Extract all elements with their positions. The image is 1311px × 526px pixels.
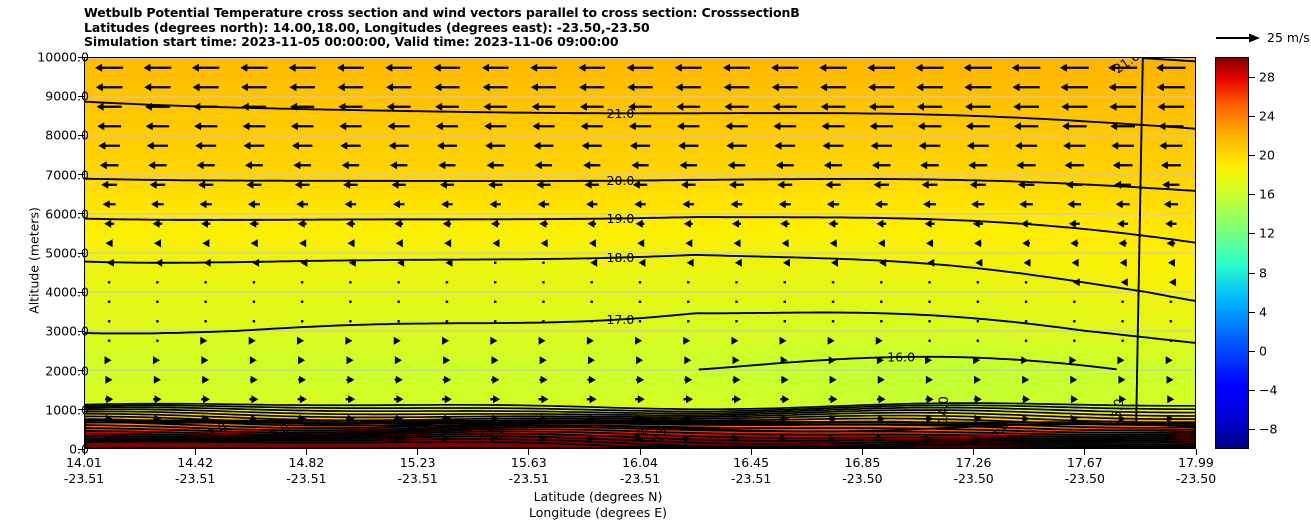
wind-vector <box>446 320 448 322</box>
wind-vector <box>349 301 351 303</box>
wind-vector <box>832 281 834 283</box>
cross-section-plot: 16.017.018.019.020.021.023.023.023.023.0… <box>84 57 1196 449</box>
colorbar-tick-label: 4 <box>1259 304 1267 319</box>
wind-vector <box>591 320 593 322</box>
arrow-right-icon <box>1216 32 1260 44</box>
wind-vector <box>156 301 158 303</box>
colorbar <box>1215 57 1249 449</box>
x-axis-latitude-label: 14.01 <box>66 455 102 470</box>
x-axis-latitude-label: 16.45 <box>733 455 769 470</box>
wind-vector <box>1073 301 1075 303</box>
wind-vector <box>542 320 544 322</box>
chart-title-block: Wetbulb Potential Temperature cross sect… <box>84 6 1204 50</box>
wind-vector <box>253 301 255 303</box>
wind-vector <box>1073 340 1075 342</box>
wind-vector <box>494 281 496 283</box>
x-axis-latitude-label: 15.63 <box>511 455 547 470</box>
wind-vector <box>977 281 979 283</box>
wind-vector <box>1025 320 1027 322</box>
y-axis-tick-mark <box>78 135 84 136</box>
wind-vector <box>301 281 303 283</box>
title-line-3: Simulation start time: 2023-11-05 00:00:… <box>84 35 1204 50</box>
wind-vector <box>446 301 448 303</box>
y-axis-tick-mark <box>78 96 84 97</box>
wind-vector <box>977 320 979 322</box>
wind-vector <box>1170 340 1172 342</box>
wind-vector <box>977 301 979 303</box>
x-axis-latitude-label: 16.04 <box>622 455 658 470</box>
colorbar-tick-label: −4 <box>1259 383 1277 398</box>
wind-vector <box>591 301 593 303</box>
plot-canvas: 16.017.018.019.020.021.023.023.023.023.0… <box>85 58 1195 448</box>
x-axis-latitude-label: 15.23 <box>400 455 436 470</box>
wind-vector <box>639 320 641 322</box>
x-axis-longitude-label: -23.51 <box>397 471 437 486</box>
contour-label: 18.0 <box>607 250 635 265</box>
wind-vector <box>397 301 399 303</box>
wind-vector <box>735 301 737 303</box>
wind-vector <box>156 320 158 322</box>
wind-vector <box>1025 281 1027 283</box>
wind-vector <box>977 340 979 342</box>
wind-vector <box>1025 340 1027 342</box>
x-axis-longitude-label: -23.51 <box>509 471 549 486</box>
x-axis-latitude-label: 14.82 <box>288 455 324 470</box>
wind-vector <box>494 320 496 322</box>
colorbar-tick-label: 20 <box>1259 148 1275 163</box>
x-axis-longitude-label: -23.50 <box>953 471 993 486</box>
y-axis-tick-mark <box>78 253 84 254</box>
wind-vector <box>687 320 689 322</box>
y-axis-tick-mark <box>78 409 84 410</box>
wind-vector <box>108 301 110 303</box>
contour-label: 21.0 <box>607 106 635 121</box>
x-axis-longitude-label: -23.51 <box>175 471 215 486</box>
wind-vector <box>542 301 544 303</box>
y-axis-tick-mark <box>78 213 84 214</box>
wind-vector <box>639 281 641 283</box>
wind-vector <box>349 320 351 322</box>
colorbar-tick-mark <box>1249 155 1255 156</box>
wind-vector <box>494 262 496 264</box>
wind-vector <box>397 320 399 322</box>
wind-vector <box>639 301 641 303</box>
x-axis-latitude-label: 17.26 <box>956 455 992 470</box>
wind-vector <box>494 301 496 303</box>
x-axis-latitude-label: 17.67 <box>1067 455 1103 470</box>
colorbar-tick-label: 8 <box>1259 265 1267 280</box>
wind-vector <box>1025 301 1027 303</box>
wind-vector <box>832 301 834 303</box>
colorbar-tick-mark <box>1249 116 1255 117</box>
wind-vector <box>301 301 303 303</box>
x-axis-longitude-label: -23.50 <box>842 471 882 486</box>
wind-vector <box>928 340 930 342</box>
colorbar-tick-mark <box>1249 429 1255 430</box>
y-axis-tick-mark <box>78 370 84 371</box>
title-line-1: Wetbulb Potential Temperature cross sect… <box>84 6 1204 21</box>
colorbar-tick-mark <box>1249 312 1255 313</box>
title-line-2: Latitudes (degrees north): 14.00,18.00, … <box>84 21 1204 36</box>
colorbar-gradient <box>1216 58 1248 448</box>
x-axis-latitude-label: 14.42 <box>177 455 213 470</box>
wind-vector <box>301 320 303 322</box>
x-axis-longitude-label: -23.51 <box>64 471 104 486</box>
colorbar-tick-mark <box>1249 390 1255 391</box>
wind-vector <box>542 262 544 264</box>
wind-vector <box>928 301 930 303</box>
wind-vector-key: 25 m/s <box>1216 30 1310 45</box>
y-axis-tick-mark <box>78 331 84 332</box>
wind-vector <box>204 301 206 303</box>
wind-vector <box>928 281 930 283</box>
wind-vector <box>349 281 351 283</box>
wind-vector <box>156 340 158 342</box>
x-axis-latitude-label: 17.99 <box>1178 455 1214 470</box>
wind-vector <box>156 281 158 283</box>
contour-label: 17.0 <box>607 312 635 327</box>
wind-vector <box>1170 301 1172 303</box>
wind-vector <box>253 281 255 283</box>
wind-vector <box>108 281 110 283</box>
wind-vector <box>204 320 206 322</box>
contour-label: 16.0 <box>887 349 915 364</box>
x-axis-longitude-label: -23.50 <box>1176 471 1216 486</box>
wind-vector <box>832 320 834 322</box>
x-axis-label-longitude: Longitude (degrees E) <box>0 505 1196 520</box>
wind-vector <box>880 301 882 303</box>
y-axis-label: Altitude (meters) <box>27 131 42 391</box>
wind-vector <box>108 340 110 342</box>
x-axis-longitude-label: -23.51 <box>286 471 326 486</box>
wind-vector <box>880 320 882 322</box>
y-axis-tick-mark <box>78 174 84 175</box>
x-axis-longitude-label: -23.51 <box>731 471 771 486</box>
wind-vector <box>253 320 255 322</box>
wind-vector <box>446 281 448 283</box>
colorbar-tick-mark <box>1249 273 1255 274</box>
x-axis-longitude-label: -23.51 <box>620 471 660 486</box>
wind-vector <box>784 281 786 283</box>
wind-vector <box>735 281 737 283</box>
wind-vector <box>928 320 930 322</box>
wind-vector <box>1170 320 1172 322</box>
contour-label: 19.0 <box>607 211 635 226</box>
contour-label: 14.0 <box>935 396 951 424</box>
x-axis-label-latitude: Latitude (degrees N) <box>0 489 1196 504</box>
y-axis-tick-mark <box>78 292 84 293</box>
wind-vector <box>687 281 689 283</box>
colorbar-tick-mark <box>1249 77 1255 78</box>
wind-vector <box>784 301 786 303</box>
colorbar-tick-label: 0 <box>1259 344 1267 359</box>
wind-vector <box>784 320 786 322</box>
wind-vector <box>687 301 689 303</box>
colorbar-tick-mark <box>1249 194 1255 195</box>
y-axis-tick-mark <box>78 57 84 58</box>
wind-vector <box>1073 320 1075 322</box>
contour-label: 20.0 <box>607 173 635 188</box>
colorbar-tick-label: 24 <box>1259 108 1275 123</box>
wind-vector <box>397 281 399 283</box>
wind-vector <box>591 281 593 283</box>
colorbar-tick-mark <box>1249 351 1255 352</box>
wind-vector <box>880 281 882 283</box>
colorbar-tick-label: 16 <box>1259 187 1275 202</box>
x-axis-longitude-label: -23.50 <box>1065 471 1105 486</box>
colorbar-tick-label: −8 <box>1259 422 1277 437</box>
wind-vector <box>1121 340 1123 342</box>
wind-key-label: 25 m/s <box>1267 30 1310 45</box>
colorbar-tick-mark <box>1249 233 1255 234</box>
wind-vector <box>108 320 110 322</box>
wind-vector <box>1121 301 1123 303</box>
x-axis-latitude-label: 16.85 <box>844 455 880 470</box>
wind-vector <box>542 281 544 283</box>
wind-vector <box>204 281 206 283</box>
wind-vector <box>1121 320 1123 322</box>
colorbar-tick-label: 12 <box>1259 226 1275 241</box>
wind-vector <box>735 320 737 322</box>
colorbar-tick-label: 28 <box>1259 69 1275 84</box>
